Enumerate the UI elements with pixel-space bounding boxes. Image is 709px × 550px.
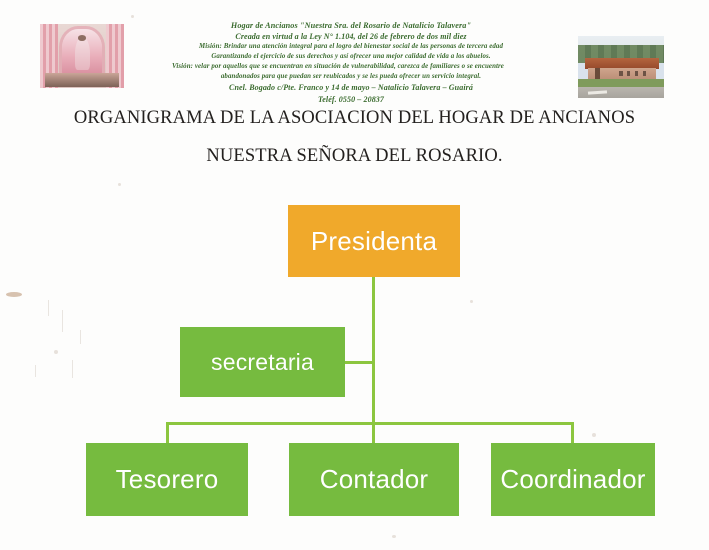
connector-distribution-bar bbox=[166, 422, 574, 425]
org-node-secretaria-label: secretaria bbox=[211, 349, 314, 376]
organizational-chart: Presidenta secretaria Tesorero Contador … bbox=[0, 0, 709, 550]
connector-drop-tesorero bbox=[166, 422, 169, 443]
org-node-secretaria[interactable]: secretaria bbox=[180, 327, 345, 397]
org-node-tesorero[interactable]: Tesorero bbox=[86, 443, 248, 516]
connector-drop-coordinador bbox=[571, 422, 574, 443]
org-node-tesorero-label: Tesorero bbox=[116, 464, 219, 495]
org-node-contador[interactable]: Contador bbox=[289, 443, 459, 516]
org-node-presidenta[interactable]: Presidenta bbox=[288, 205, 460, 277]
org-node-coordinador-label: Coordinador bbox=[500, 464, 645, 495]
org-node-presidenta-label: Presidenta bbox=[311, 226, 437, 257]
org-node-coordinador[interactable]: Coordinador bbox=[491, 443, 655, 516]
connector-secretary-stub bbox=[345, 361, 373, 364]
org-node-contador-label: Contador bbox=[320, 464, 429, 495]
connector-president-trunk bbox=[372, 277, 375, 443]
document-page: Hogar de Ancianos "Nuestra Sra. del Rosa… bbox=[0, 0, 709, 550]
